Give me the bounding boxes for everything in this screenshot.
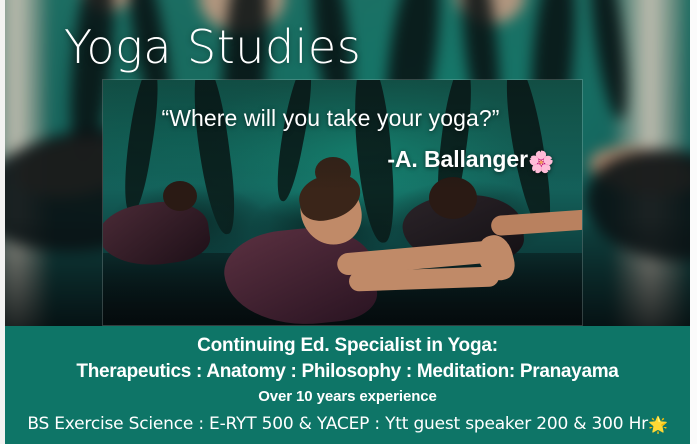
frame-edge-left: [0, 0, 5, 444]
quote-attribution-text: -A. Ballanger: [387, 146, 528, 172]
quote-overlay: “Where will you take your yoga?” -A. Bal…: [103, 80, 582, 190]
page-title: Yoga Studies: [64, 24, 361, 70]
frame-edge-right: [690, 0, 697, 444]
glowing-star-icon: 🌟: [648, 415, 668, 434]
credentials-line-2: Therapeutics : Anatomy : Philosophy : Me…: [5, 359, 690, 384]
cherry-blossom-icon: 🌸: [528, 151, 554, 174]
practitioner-arm-lower: [349, 266, 500, 291]
credentials-band: Continuing Ed. Specialist in Yoga: Thera…: [5, 326, 690, 444]
inset-yoga-photo: “Where will you take your yoga?” -A. Bal…: [103, 80, 582, 325]
quote-attribution: -A. Ballanger🌸: [103, 146, 554, 175]
credentials-line-3: Over 10 years experience: [5, 387, 690, 407]
yoga-studies-poster: Yoga Studies: [0, 0, 697, 444]
quote-text: “Where will you take your yoga?”: [103, 106, 558, 130]
credentials-line-1: Continuing Ed. Specialist in Yoga:: [5, 333, 690, 358]
credentials-line-4-text: BS Exercise Science : E-RYT 500 & YACEP …: [27, 414, 648, 434]
credentials-line-4: BS Exercise Science : E-RYT 500 & YACEP …: [5, 413, 690, 436]
practitioner-left-torso: [103, 196, 213, 273]
